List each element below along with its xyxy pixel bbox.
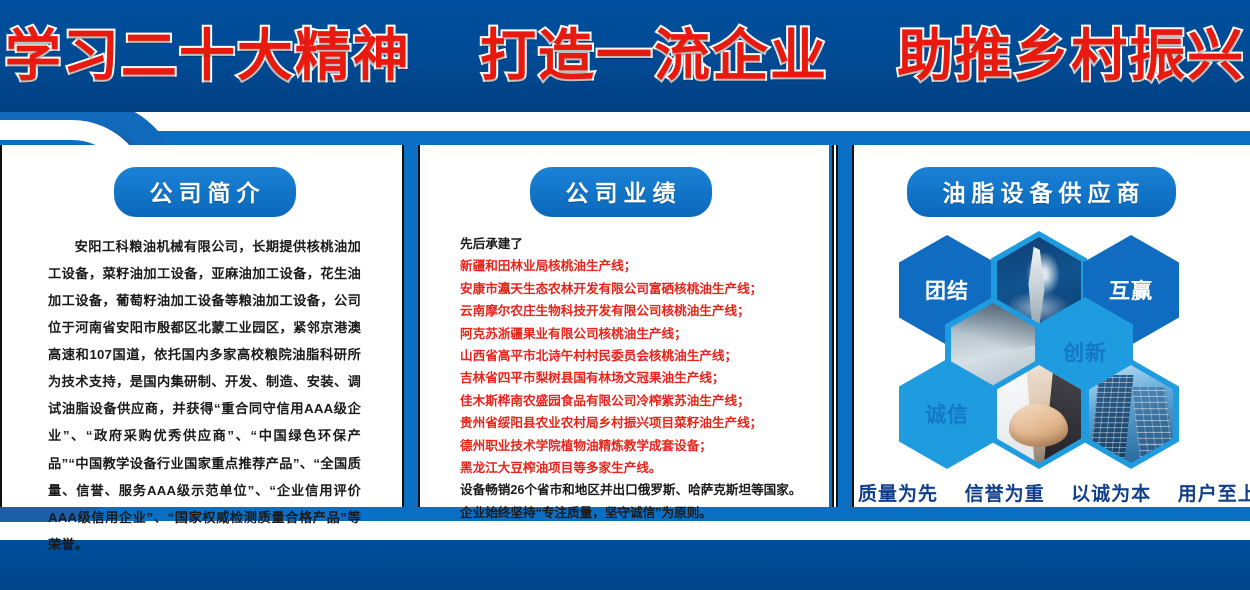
project-item: 贵州省绥阳县农业农村局乡村振兴项目菜籽油生产线； <box>460 412 783 434</box>
panel-supplier: 油脂设备供应商 团结 互赢 <box>832 145 1250 507</box>
poster-root: 学习二十大精神 打造一流企业 助推乡村振兴 公司简介 安阳工科粮油机械有限公司，… <box>0 0 1250 590</box>
hex-label: 团结 <box>925 275 969 305</box>
panel-company-performance: 公司业绩 先后承建了 新疆和田林业局核桃油生产线； 安康市瀛天生态农林开发有限公… <box>412 145 832 507</box>
slogan-part-4: 用户至上 <box>1178 484 1250 505</box>
panel-company-performance-inner: 公司业绩 先后承建了 新疆和田林业局核桃油生产线； 安康市瀛天生态农林开发有限公… <box>412 167 829 524</box>
project-item: 佳木斯桦南农盛园食品有限公司冷榨紫苏油生产线； <box>460 390 783 412</box>
company-profile-heading: 公司简介 <box>114 167 296 217</box>
banner-title-part-3: 助推乡村振兴 <box>897 24 1245 87</box>
banner-title-part-2: 打造一流企业 <box>480 24 828 87</box>
slogan-part-1: 质量为先 <box>858 484 938 505</box>
project-item: 黑龙江大豆榨油项目等多家生产线。 <box>460 457 783 479</box>
hex-label: 互赢 <box>1109 275 1153 305</box>
panel-divider-right <box>838 145 852 507</box>
project-item: 吉林省四平市梨树县国有林场文冠果油生产线； <box>460 367 783 389</box>
top-banner: 学习二十大精神 打造一流企业 助推乡村振兴 <box>0 0 1250 112</box>
handshake-icon <box>997 365 1081 463</box>
honeycomb-diagram: 团结 互赢 <box>861 227 1221 463</box>
tower-right-icon <box>1131 387 1174 463</box>
office-towers-icon <box>1089 365 1173 463</box>
hex-label: 创新 <box>1063 337 1107 367</box>
panel-company-profile: 公司简介 安阳工科粮油机械有限公司，长期提供核桃油加工设备，菜籽油加工设备，亚麻… <box>0 145 412 507</box>
performance-list: 先后承建了 新疆和田林业局核桃油生产线； 安康市瀛天生态农林开发有限公司富硒核桃… <box>460 233 783 524</box>
project-item: 新疆和田林业局核桃油生产线； <box>460 255 783 277</box>
performance-footer-line: 企业始终坚持“专注质量，坚守诚信”为原则。 <box>460 502 783 524</box>
panel-company-profile-inner: 公司简介 安阳工科粮油机械有限公司，长期提供核桃油加工设备，菜籽油加工设备，亚麻… <box>0 167 409 558</box>
project-item: 德州职业技术学院植物油精炼教学成套设备； <box>460 435 783 457</box>
project-item: 云南摩尔农庄生物科技开发有限公司核桃油生产线； <box>460 300 783 322</box>
slogan-part-2: 信誉为重 <box>965 484 1045 505</box>
card-top-band <box>0 131 1250 145</box>
project-item: 安康市瀛天生态农林开发有限公司富硒核桃油生产线； <box>460 278 783 300</box>
clasped-hands-icon <box>1009 404 1068 447</box>
project-item: 山西省高平市北诗午村村民委员会核桃油生产线； <box>460 345 783 367</box>
project-item: 阿克苏浙疆果业有限公司核桃油生产线； <box>460 323 783 345</box>
tower-left-icon <box>1089 375 1134 463</box>
panel-row: 公司简介 安阳工科粮油机械有限公司，长期提供核桃油加工设备，菜籽油加工设备，亚麻… <box>0 145 1250 507</box>
banner-title: 学习二十大精神 打造一流企业 助推乡村振兴 <box>5 28 1245 84</box>
slogan-part-3: 以诚为本 <box>1071 484 1151 505</box>
banner-title-part-1: 学习二十大精神 <box>5 24 411 87</box>
hex-label: 诚信 <box>925 399 969 429</box>
panel-supplier-inner: 油脂设备供应商 团结 互赢 <box>832 167 1250 506</box>
supplier-slogan: 质量为先 信誉为重 以诚为本 用户至上 <box>858 479 1224 506</box>
company-profile-text: 安阳工科粮油机械有限公司，长期提供核桃油加工设备，菜籽油加工设备，亚麻油加工设备… <box>48 239 361 552</box>
performance-footer-line: 设备畅销26个省市和地区并出口俄罗斯、哈萨克斯坦等国家。 <box>460 479 783 501</box>
performance-lead: 先后承建了 <box>460 233 783 255</box>
company-profile-paragraph: 安阳工科粮油机械有限公司，长期提供核桃油加工设备，菜籽油加工设备，亚麻油加工设备… <box>48 233 361 558</box>
panel-divider-left <box>404 145 418 507</box>
supplier-heading: 油脂设备供应商 <box>907 167 1176 217</box>
company-performance-heading: 公司业绩 <box>530 167 712 217</box>
